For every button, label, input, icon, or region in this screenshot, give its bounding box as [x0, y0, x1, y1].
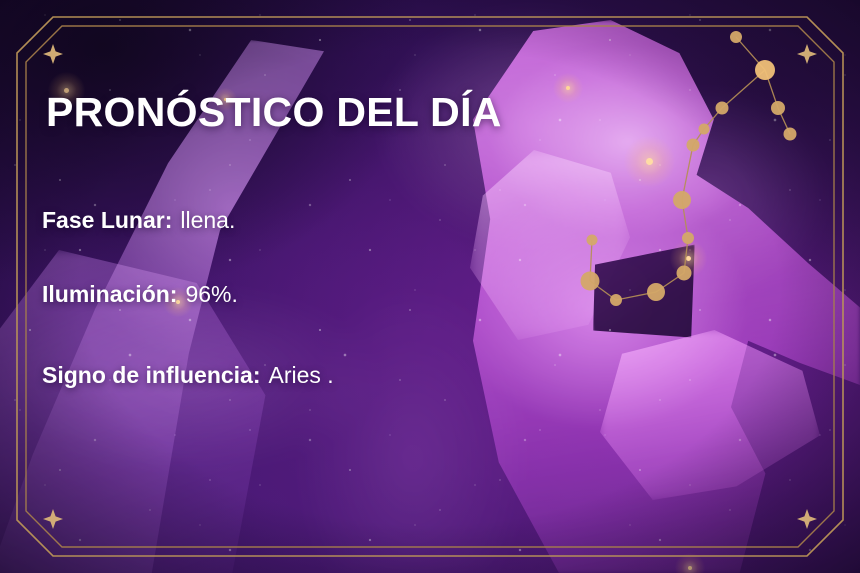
- moon-phase-label: Fase Lunar:: [42, 207, 172, 233]
- moon-phase-value: llena.: [180, 207, 235, 233]
- illumination-label: Iluminación:: [42, 281, 177, 307]
- influence-sign-value: Aries .: [269, 362, 334, 388]
- info-row-illumination: Iluminación:96%.: [42, 283, 238, 306]
- info-row-moon-phase: Fase Lunar:llena.: [42, 209, 235, 232]
- page-title: PRONÓSTICO DEL DÍA: [46, 92, 502, 133]
- info-row-influence-sign: Signo de influencia:Aries .: [42, 364, 334, 387]
- influence-sign-label: Signo de influencia:: [42, 362, 261, 388]
- illumination-value: 96%.: [185, 281, 237, 307]
- horoscope-forecast-card: PRONÓSTICO DEL DÍA Fase Lunar:llena. Ilu…: [0, 0, 860, 573]
